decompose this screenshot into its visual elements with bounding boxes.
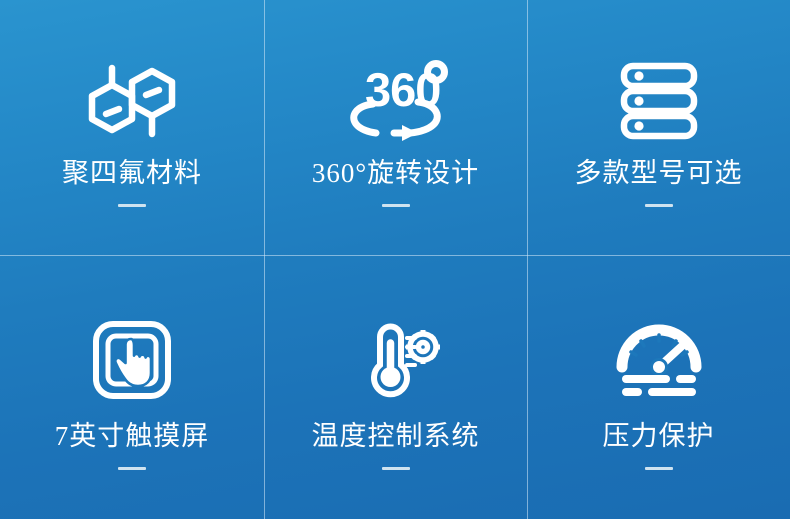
title-rule xyxy=(382,204,410,207)
feature-title: 7英寸触摸屏 xyxy=(55,423,210,450)
feature-cell-rotation-design[interactable]: 360 360°旋转设计 xyxy=(264,0,527,255)
thermometer-gear-icon xyxy=(352,305,440,401)
feature-cell-temperature-control[interactable]: 温度控制系统 xyxy=(264,255,527,519)
title-rule xyxy=(645,204,673,207)
feature-cell-ptfe-material[interactable]: 聚四氟材料 xyxy=(0,0,264,255)
title-rule xyxy=(645,467,673,470)
feature-title: 多款型号可选 xyxy=(575,160,743,187)
feature-grid: 聚四氟材料 360 360°旋转设计 xyxy=(0,0,790,519)
feature-cell-touchscreen[interactable]: 7英寸触摸屏 xyxy=(0,255,264,519)
pressure-gauge-icon xyxy=(616,305,702,401)
feature-banner: 聚四氟材料 360 360°旋转设计 xyxy=(0,0,790,519)
title-rule xyxy=(118,467,146,470)
title-rule xyxy=(118,204,146,207)
molecule-hexagons-icon xyxy=(83,48,181,144)
feature-title: 温度控制系统 xyxy=(312,423,480,450)
feature-title: 360°旋转设计 xyxy=(312,160,479,187)
feature-cell-pressure-protection[interactable]: 压力保护 xyxy=(527,255,790,519)
server-stack-icon xyxy=(616,48,702,144)
feature-cell-model-options[interactable]: 多款型号可选 xyxy=(527,0,790,255)
feature-title: 聚四氟材料 xyxy=(62,160,202,187)
360-rotation-icon: 360 xyxy=(340,48,452,144)
feature-title: 压力保护 xyxy=(603,423,715,450)
touchscreen-hand-icon xyxy=(91,305,173,401)
title-rule xyxy=(382,467,410,470)
